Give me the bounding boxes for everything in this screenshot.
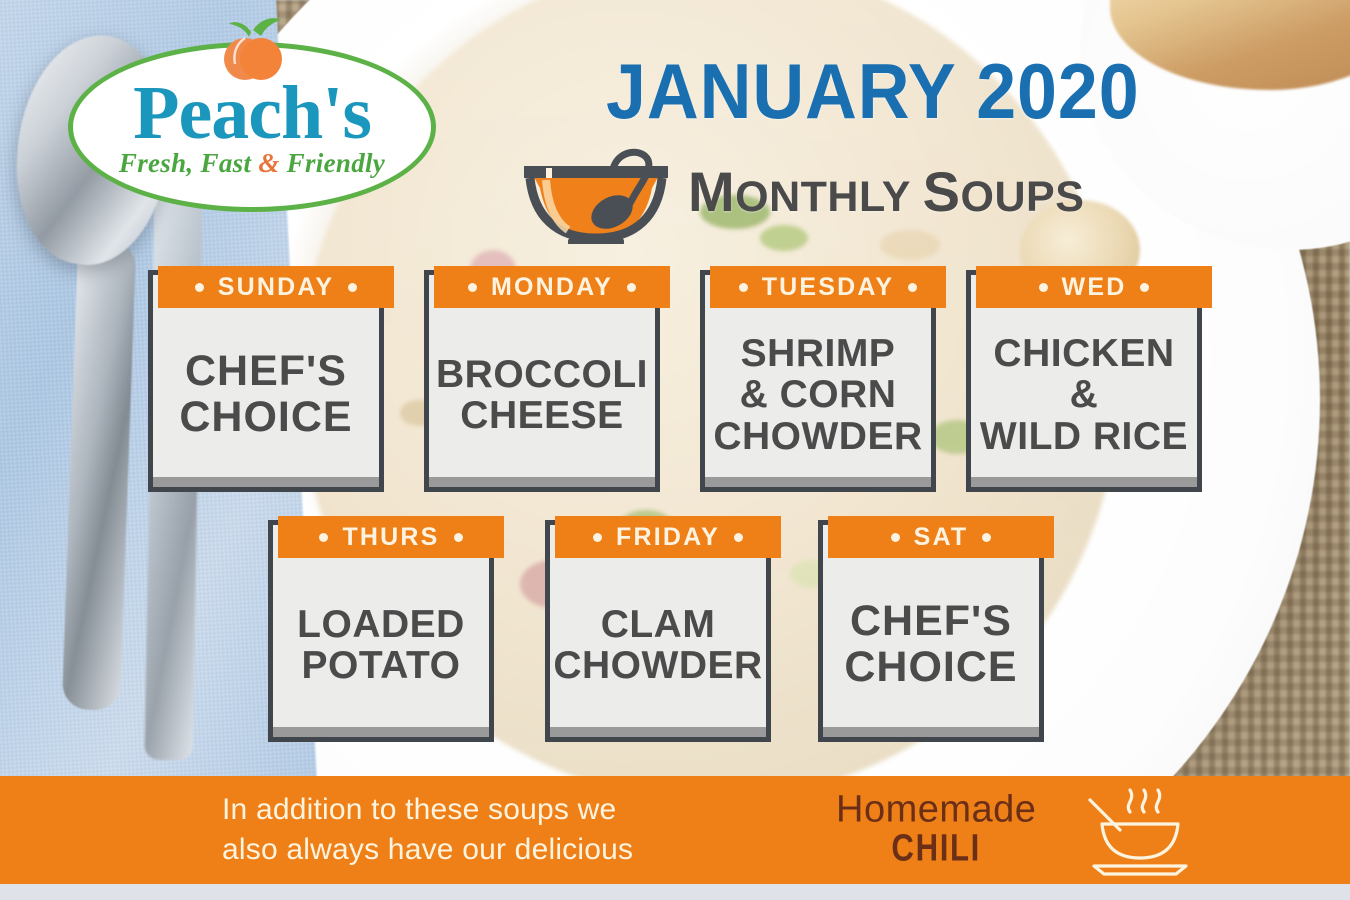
day-label: FRIDAY [616,523,720,552]
subtitle-oups: OUPS [961,173,1085,221]
banner-bottom-strip [0,884,1350,900]
day-header-monday: MONDAY [434,266,670,308]
day-card-wed[interactable]: WED CHICKEN & WILD RICE [966,270,1202,492]
card-inner: SUNDAY CHEF'S CHOICE [153,275,379,477]
day-card-thurs[interactable]: THURS LOADED POTATO [268,520,494,742]
bullet-dot-right-icon [348,283,357,292]
brand-logo[interactable]: Peach's Fresh, Fast & Friendly [68,42,436,212]
day-header-sunday: SUNDAY [158,266,394,308]
tagline-ampersand: & [258,148,279,178]
subtitle-cap-m: M [688,160,735,223]
bullet-dot-left-icon [739,283,748,292]
page-title: JANUARY 2020 [606,52,1140,130]
soup-bowl-ladle-icon [516,140,676,244]
promo-banner: In addition to these soups we also alway… [0,776,1350,884]
bullet-dot-right-icon [627,283,636,292]
day-label: SAT [914,523,969,552]
day-card-tuesday[interactable]: TUESDAY SHRIMP & CORN CHOWDER [700,270,936,492]
card-inner: FRIDAY CLAM CHOWDER [550,525,766,727]
banner-message: In addition to these soups we also alway… [222,790,633,870]
bullet-dot-left-icon [593,533,602,542]
logo-tagline: Fresh, Fast & Friendly [119,148,385,179]
day-header-thurs: THURS [278,516,504,558]
day-card-sunday[interactable]: SUNDAY CHEF'S CHOICE [148,270,384,492]
day-label: TUESDAY [762,273,895,302]
subtitle-onthly: ONTHLY [735,173,923,221]
day-header-friday: FRIDAY [555,516,781,558]
subtitle-cap-s: S [923,160,961,223]
bullet-dot-left-icon [319,533,328,542]
peach-icon [215,14,289,88]
day-label: MONDAY [491,273,613,302]
day-card-friday[interactable]: FRIDAY CLAM CHOWDER [545,520,771,742]
bullet-dot-right-icon [734,533,743,542]
chili-homemade-label: Homemade [836,791,1036,830]
steaming-soup-bowl-icon [1080,782,1200,878]
subtitle-row: MONTHLY SOUPS [516,140,1084,244]
day-label: WED [1062,273,1127,302]
card-inner: TUESDAY SHRIMP & CORN CHOWDER [705,275,931,477]
bullet-dot-right-icon [454,533,463,542]
day-header-wed: WED [976,266,1212,308]
day-label: SUNDAY [218,273,334,302]
bullet-dot-right-icon [1140,283,1149,292]
bullet-dot-left-icon [195,283,204,292]
bullet-dot-right-icon [908,283,917,292]
bullet-dot-right-icon [982,533,991,542]
card-inner: THURS LOADED POTATO [273,525,489,727]
day-label: THURS [342,523,439,552]
bullet-dot-left-icon [891,533,900,542]
soup-menu-flyer: Peach's Fresh, Fast & Friendly JANUARY 2… [0,0,1350,900]
bullet-dot-left-icon [468,283,477,292]
tagline-part1: Fresh, Fast [119,148,258,178]
day-header-sat: SAT [828,516,1054,558]
bullet-dot-left-icon [1039,283,1048,292]
page-subtitle: MONTHLY SOUPS [688,164,1084,220]
card-inner: MONDAY BROCCOLI CHEESE [429,275,655,477]
day-card-monday[interactable]: MONDAY BROCCOLI CHEESE [424,270,660,492]
chili-label: CHILI [854,829,1018,869]
logo-wordmark: Peach's [133,81,371,146]
card-inner: WED CHICKEN & WILD RICE [971,275,1197,477]
chili-callout: Homemade CHILI [836,791,1036,870]
tagline-part2: Friendly [280,148,385,178]
card-inner: SAT CHEF'S CHOICE [823,525,1039,727]
day-card-sat[interactable]: SAT CHEF'S CHOICE [818,520,1044,742]
day-header-tuesday: TUESDAY [710,266,946,308]
